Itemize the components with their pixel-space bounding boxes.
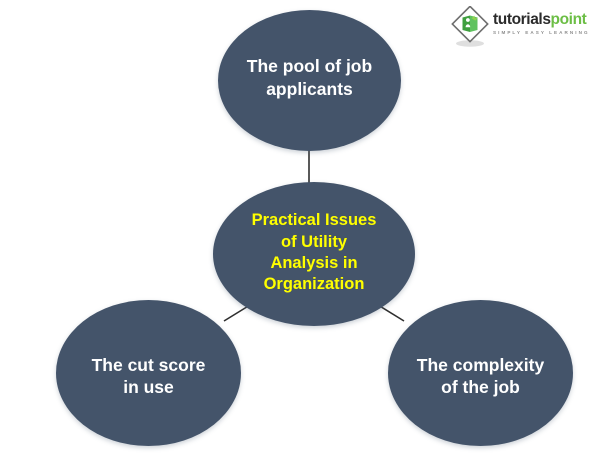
node-label: The complexity of the job: [403, 354, 558, 398]
connector-center-to-right: [378, 305, 404, 321]
node-cut-score-in-use[interactable]: The cut score in use: [56, 300, 241, 446]
node-label: The cut score in use: [78, 354, 220, 398]
node-complexity-of-the-job[interactable]: The complexity of the job: [388, 300, 573, 446]
node-practical-issues-center[interactable]: Practical Issues of Utility Analysis in …: [213, 182, 415, 326]
diagram-canvas: tutorialspoint SIMPLY EASY LEARNING The …: [0, 0, 600, 454]
node-label: The pool of job applicants: [233, 55, 386, 99]
node-pool-of-job-applicants[interactable]: The pool of job applicants: [218, 10, 401, 151]
node-label: Practical Issues of Utility Analysis in …: [238, 210, 391, 296]
